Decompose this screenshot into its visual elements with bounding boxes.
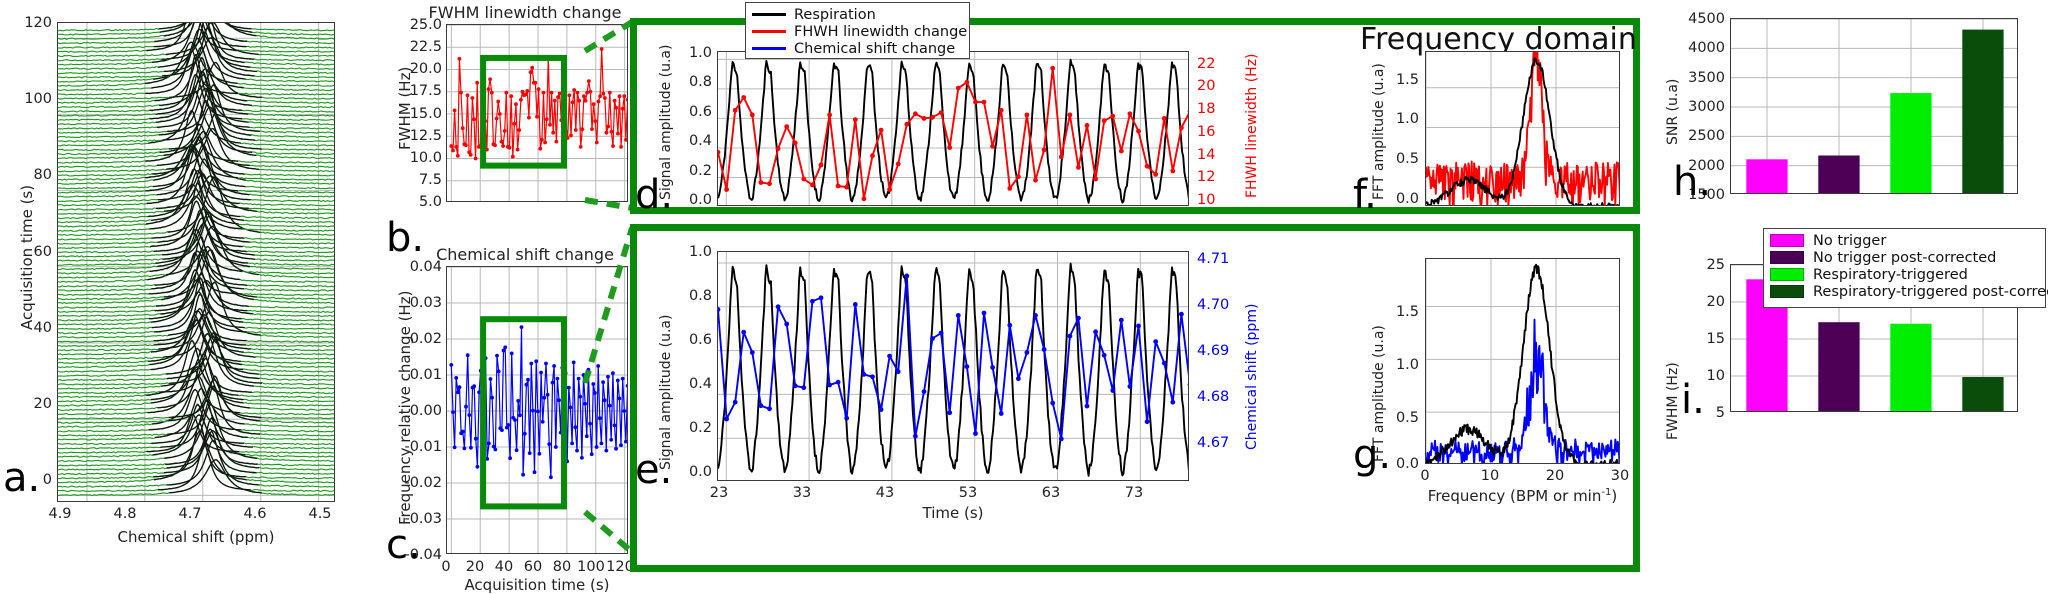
legend-swatch-purple: [1770, 251, 1804, 264]
panel-a-ytick: 60: [14, 244, 52, 260]
panel-b-ytick: 5.0: [398, 194, 442, 210]
panel-c-xtick: 40: [490, 559, 518, 575]
panel-label-i: i.: [1681, 380, 1705, 420]
main-legend: Respiration FHWH linewidth change Chemic…: [745, 2, 970, 59]
panel-i-ytick: 25: [1685, 257, 1725, 273]
panel-c-xtick: 60: [519, 559, 547, 575]
legend-swatch-darkgreen: [1770, 285, 1804, 298]
panel-b-ytick: 7.5: [398, 172, 442, 188]
figure-root: Acquisition time (s) 120 100 80 60 40 20…: [0, 0, 2048, 591]
panel-f-axes: [1425, 51, 1620, 206]
panel-d-axes: [717, 51, 1189, 206]
panel-e-ytick: 0.6: [672, 332, 712, 348]
panel-e-ytick: 0.0: [672, 464, 712, 480]
panel-e-y2tick: 4.71: [1197, 251, 1229, 267]
panel-d-ytick: 0.4: [672, 133, 712, 149]
panel-e-xtick: 63: [1036, 485, 1066, 501]
panel-e-y2label: Chemical shift (ppm): [1244, 304, 1260, 450]
panel-d-ytick: 0.2: [672, 163, 712, 179]
panel-e-xtick: 43: [870, 485, 900, 501]
panel-b-ytick: 17.5: [398, 83, 442, 99]
panel-d-y2tick: 12: [1197, 169, 1215, 185]
panel-e-xtick: 23: [704, 485, 734, 501]
panel-d-ytick: 0.8: [672, 74, 712, 90]
panel-a-ytick: 40: [14, 320, 52, 336]
panel-b-ytick: 22.5: [398, 39, 442, 55]
panel-a-ytick: 100: [14, 91, 52, 107]
panel-g-xtick: 30: [1607, 468, 1633, 484]
panel-b-axes: [446, 24, 628, 202]
panel-g-xtick: 0: [1412, 468, 1438, 484]
panel-c-ytick: 0.00: [390, 403, 442, 419]
panel-c-axes: [446, 266, 628, 554]
panel-g: FFT amplitude (u.a) 1.5 1.0 0.5 0.0 0 10…: [1355, 240, 1645, 540]
panel-f-ytick: 1.0: [1381, 111, 1419, 127]
panel-e-xtick: 53: [953, 485, 983, 501]
panel-b-ytick: 10.0: [398, 150, 442, 166]
panel-h-ytick: 3000: [1673, 99, 1725, 115]
panel-b-ytick: 25.0: [398, 17, 442, 33]
bar-legend: No trigger No trigger post-corrected Res…: [1763, 228, 2046, 308]
panel-e-xtick: 73: [1119, 485, 1149, 501]
panel-c-xlabel: Acquisition time (s): [446, 576, 628, 594]
legend-item-no-trigger-post: No trigger post-corrected: [1770, 249, 2039, 266]
panel-c-ytick: 0.02: [390, 331, 442, 347]
panel-d-y2tick: 10: [1197, 192, 1215, 208]
legend-line-blue: [752, 47, 786, 50]
panel-f-ytick: 1.5: [1381, 72, 1419, 88]
legend-swatch-green: [1770, 268, 1804, 281]
panel-c-xtick: 80: [548, 559, 576, 575]
panel-a-xtick: 4.8: [105, 506, 145, 522]
panel-h-ytick: 4000: [1673, 40, 1725, 56]
panel-f-ytick: 0.0: [1381, 191, 1419, 207]
panel-e-ytick: 0.8: [672, 288, 712, 304]
panel-a-xtick: 4.6: [235, 506, 275, 522]
panel-g-ytick: 0.5: [1381, 410, 1419, 426]
legend-item-resp-trig-post: Respiratory-triggered post-corrected: [1770, 283, 2039, 300]
panel-c-ytick: 0.04: [390, 259, 442, 275]
panel-e-y2tick: 4.68: [1197, 389, 1229, 405]
panel-h-ytick: 4500: [1673, 11, 1725, 27]
legend-line-red: [752, 30, 786, 33]
panel-label-a: a.: [3, 458, 40, 498]
panel-c: Chemical shift change Frequency relative…: [380, 243, 630, 591]
panel-f: FFT amplitude (u.a) 1.5 1.0 0.5 0.0 f.: [1355, 40, 1625, 215]
panel-a-xtick: 4.9: [40, 506, 80, 522]
panel-a-xlabel: Chemical shift (ppm): [57, 528, 335, 546]
panel-d-y2tick: 20: [1197, 78, 1215, 94]
panel-a-ytick: 80: [14, 167, 52, 183]
panel-b-ytick: 12.5: [398, 128, 442, 144]
panel-b-ytick: 20.0: [398, 61, 442, 77]
panel-d-y2tick: 22: [1197, 56, 1215, 72]
panel-e-ytick: 0.2: [672, 420, 712, 436]
panel-label-g: g.: [1353, 435, 1391, 475]
panel-c-ytick: 0.01: [390, 367, 442, 383]
panel-a-xtick: 4.5: [300, 506, 340, 522]
panel-e-ytick: 1.0: [672, 244, 712, 260]
panel-g-xtick: 10: [1477, 468, 1503, 484]
panel-label-e: e.: [635, 450, 672, 490]
panel-c-xtick: 0: [432, 559, 460, 575]
panel-g-axes: [1425, 258, 1620, 464]
panel-label-f: f.: [1353, 175, 1377, 215]
panel-g-ytick: 1.5: [1381, 304, 1419, 320]
panel-h: SNR (u.a) 4500 4000 3500 3000 2500 2000 …: [1655, 0, 2048, 230]
panel-d: Signal amplitude (u.a) 1.0 0.8 0.6 0.4 0…: [640, 40, 1270, 215]
panel-h-ytick: 2500: [1673, 128, 1725, 144]
panel-e-y2tick: 4.69: [1197, 343, 1229, 359]
panel-f-ytick: 0.5: [1381, 151, 1419, 167]
panel-e-axes: [717, 251, 1189, 481]
panel-a: Acquisition time (s) 120 100 80 60 40 20…: [0, 0, 350, 591]
panel-e-xlabel: Time (s): [717, 504, 1189, 522]
panel-a-xtick: 4.7: [170, 506, 210, 522]
panel-c-title: Chemical shift change: [410, 245, 640, 264]
panel-label-c: c.: [386, 525, 421, 565]
panel-d-ytick: 0.6: [672, 104, 712, 120]
panel-a-ytick: 120: [14, 15, 52, 31]
panel-c-ytick: 0.03: [390, 295, 442, 311]
panel-d-ytick: 1.0: [672, 45, 712, 61]
panel-d-y2tick: 18: [1197, 101, 1215, 117]
panel-i-ytick: 15: [1685, 331, 1725, 347]
legend-label: No trigger: [1813, 233, 1886, 249]
legend-label: FHWH linewidth change: [794, 24, 967, 40]
panel-b-ytick: 15.0: [398, 106, 442, 122]
panel-c-xtick: 20: [461, 559, 489, 575]
panel-e-ytick: 0.4: [672, 376, 712, 392]
legend-item-chemshift: Chemical shift change: [752, 40, 963, 57]
legend-label: Respiratory-triggered: [1813, 267, 1968, 283]
legend-item-respiration: Respiration: [752, 6, 963, 23]
panel-label-h: h.: [1673, 162, 1711, 202]
legend-item-no-trigger: No trigger: [1770, 232, 2039, 249]
legend-label: No trigger post-corrected: [1813, 250, 1996, 266]
legend-label: Respiration: [794, 7, 876, 23]
panel-e-xtick: 33: [787, 485, 817, 501]
panel-e-y2tick: 4.67: [1197, 435, 1229, 451]
legend-swatch-magenta: [1770, 234, 1804, 247]
legend-label: Chemical shift change: [794, 41, 955, 57]
panel-d-y2tick: 14: [1197, 147, 1215, 163]
panel-g-ytick: 1.0: [1381, 357, 1419, 373]
legend-line-black: [752, 13, 786, 16]
legend-label: Respiratory-triggered post-corrected: [1813, 284, 2048, 300]
legend-item-resp-trig: Respiratory-triggered: [1770, 266, 2039, 283]
panel-label-d: d.: [635, 175, 673, 215]
panel-e: Signal amplitude (u.a) 1.0 0.8 0.6 0.4 0…: [640, 240, 1270, 540]
panel-i-ylabel: FWHM (Hz): [1665, 362, 1681, 440]
panel-d-y2tick: 16: [1197, 124, 1215, 140]
panel-c-ytick: -0.01: [390, 439, 442, 455]
panel-e-y2tick: 4.70: [1197, 297, 1229, 313]
panel-i-ytick: 20: [1685, 294, 1725, 310]
panel-a-ytick: 20: [14, 396, 52, 412]
panel-g-xlabel: Frequency (BPM or min-1): [1410, 487, 1635, 505]
panel-b: FWHM linewidth change FWHM (Hz) 25.0 22.…: [380, 0, 630, 250]
panel-a-axes: [57, 22, 335, 502]
panel-c-xtick: 100: [577, 559, 605, 575]
panel-c-ytick: -0.02: [390, 475, 442, 491]
panel-d-y2label: FHWH linewidth (Hz): [1244, 53, 1260, 198]
panel-g-xlabel-text: Frequency (BPM or min-1): [1428, 487, 1617, 505]
panel-g-xtick: 20: [1542, 468, 1568, 484]
panel-h-ytick: 3500: [1673, 70, 1725, 86]
panel-h-axes: [1730, 18, 2018, 194]
panel-b-title: FWHM linewidth change: [410, 3, 640, 22]
panel-d-ytick: 0.0: [672, 192, 712, 208]
legend-item-fwhm: FHWH linewidth change: [752, 23, 963, 40]
